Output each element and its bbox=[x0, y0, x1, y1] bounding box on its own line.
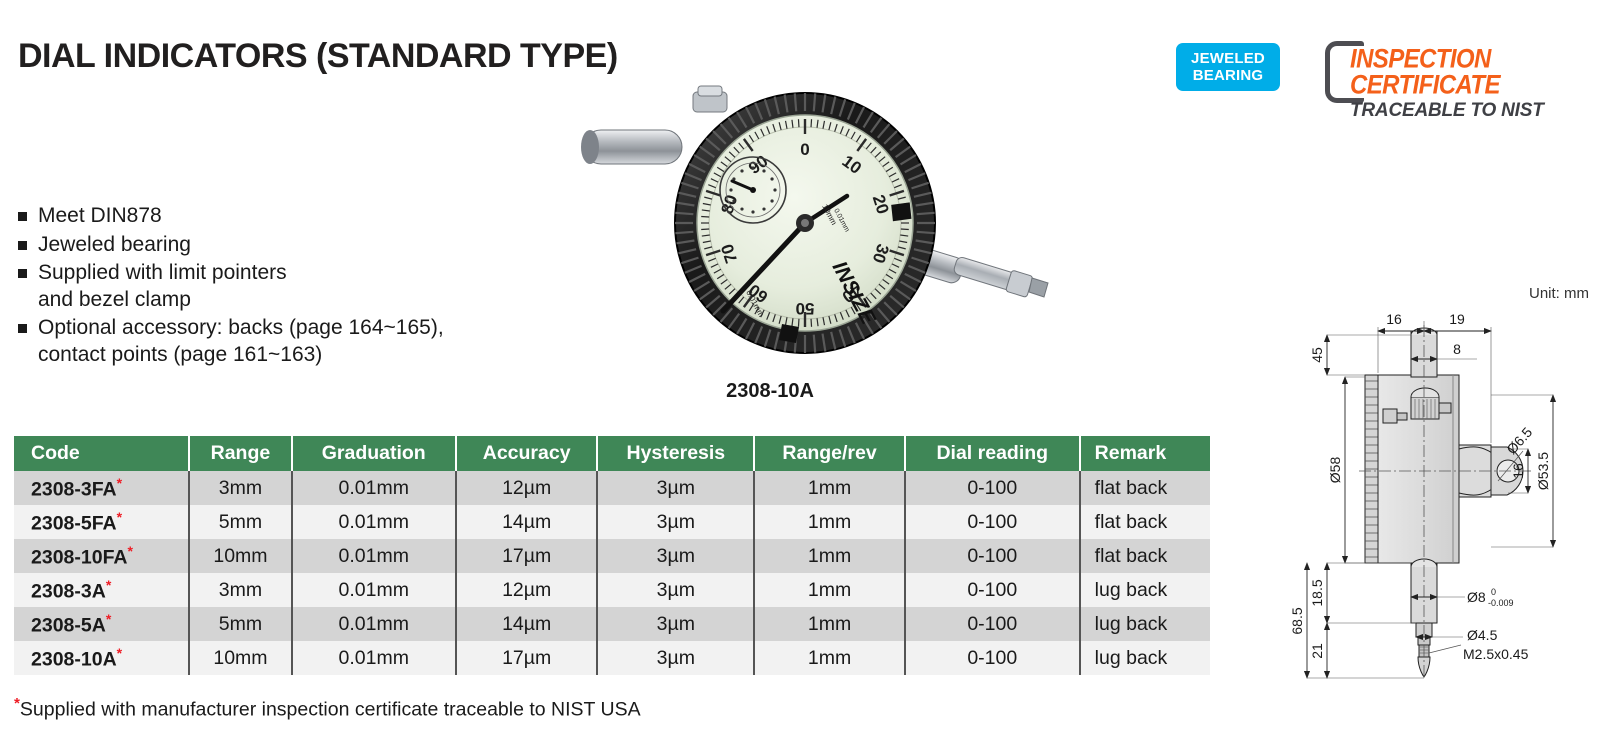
cell-hysteresis: 3µm bbox=[597, 641, 754, 675]
cell-graduation: 0.01mm bbox=[292, 573, 456, 607]
dim-dia8-tol-upper: 0 bbox=[1491, 587, 1496, 597]
table-row: 2308-10A*10mm0.01mm17µm3µm1mm0-100lug ba… bbox=[14, 641, 1210, 675]
cell-accuracy: 17µm bbox=[456, 641, 598, 675]
dim-dia6-5: Ø6.5 bbox=[1503, 424, 1535, 457]
table-header-row: Code Range Graduation Accuracy Hysteresi… bbox=[14, 436, 1210, 471]
cell-range-rev: 1mm bbox=[754, 641, 905, 675]
column-header-remark: Remark bbox=[1080, 436, 1210, 471]
cell-dial-reading: 0-100 bbox=[905, 573, 1080, 607]
cell-code: 2308-3FA* bbox=[14, 471, 189, 505]
product-photo-dial-indicator: 0102030405060708090 I bbox=[560, 78, 1060, 368]
table-row: 2308-5FA*5mm0.01mm14µm3µm1mm0-100flat ba… bbox=[14, 505, 1210, 539]
dim-thread: M2.5x0.45 bbox=[1463, 646, 1529, 662]
dial-tick-label: 0 bbox=[800, 140, 809, 159]
cell-code: 2308-5FA* bbox=[14, 505, 189, 539]
photo-bezel-clamp bbox=[693, 86, 727, 112]
photo-back-lug bbox=[581, 130, 682, 164]
feature-text: Meet DIN878 bbox=[38, 203, 162, 230]
cell-accuracy: 12µm bbox=[456, 573, 598, 607]
feature-list: Meet DIN878 Jeweled bearing Supplied wit… bbox=[18, 203, 538, 370]
square-bullet-icon bbox=[18, 324, 27, 333]
cell-range-rev: 1mm bbox=[754, 505, 905, 539]
list-item: Supplied with limit pointers and bezel c… bbox=[18, 260, 538, 313]
table-row: 2308-5A*5mm0.01mm14µm3µm1mm0-100lug back bbox=[14, 607, 1210, 641]
list-item: Meet DIN878 bbox=[18, 203, 538, 230]
cell-hysteresis: 3µm bbox=[597, 471, 754, 505]
list-item: Optional accessory: backs (page 164~165)… bbox=[18, 315, 538, 368]
feature-line1: Supplied with limit pointers bbox=[38, 261, 287, 284]
dim-dia53-5: Ø53.5 bbox=[1535, 452, 1551, 490]
table-footnote: *Supplied with manufacturer inspection c… bbox=[14, 695, 641, 722]
feature-line1: Jeweled bearing bbox=[38, 233, 191, 256]
dim-21: 21 bbox=[1309, 643, 1325, 659]
feature-text: Supplied with limit pointers and bezel c… bbox=[38, 260, 287, 313]
dim-16-lug: 16 bbox=[1510, 463, 1526, 479]
cell-code: 2308-10FA* bbox=[14, 539, 189, 573]
cell-graduation: 0.01mm bbox=[292, 539, 456, 573]
asterisk-icon: * bbox=[117, 645, 122, 661]
cell-graduation: 0.01mm bbox=[292, 505, 456, 539]
cell-dial-reading: 0-100 bbox=[905, 641, 1080, 675]
asterisk-icon: * bbox=[117, 475, 122, 491]
asterisk-icon: * bbox=[117, 509, 122, 525]
cell-range: 10mm bbox=[189, 539, 291, 573]
column-header-hysteresis: Hysteresis bbox=[597, 436, 754, 471]
table-row: 2308-3A*3mm0.01mm12µm3µm1mm0-100lug back bbox=[14, 573, 1210, 607]
cell-dial-reading: 0-100 bbox=[905, 539, 1080, 573]
feature-text: Optional accessory: backs (page 164~165)… bbox=[38, 315, 444, 368]
cell-dial-reading: 0-100 bbox=[905, 471, 1080, 505]
jeweled-bearing-badge: JEWELED BEARING bbox=[1176, 43, 1280, 91]
cell-hysteresis: 3µm bbox=[597, 539, 754, 573]
column-header-range: Range bbox=[189, 436, 291, 471]
column-header-code: Code bbox=[14, 436, 189, 471]
table-row: 2308-10FA*10mm0.01mm17µm3µm1mm0-100flat … bbox=[14, 539, 1210, 573]
photo-revolution-subdial bbox=[720, 157, 786, 223]
dim-18-5: 18.5 bbox=[1309, 579, 1325, 606]
jeweled-badge-line1: JEWELED bbox=[1191, 50, 1265, 67]
list-item: Jeweled bearing bbox=[18, 232, 538, 259]
table-row: 2308-3FA*3mm0.01mm12µm3µm1mm0-100flat ba… bbox=[14, 471, 1210, 505]
dim-19: 19 bbox=[1449, 311, 1465, 327]
cell-remark: lug back bbox=[1080, 641, 1210, 675]
feature-line1: Optional accessory: backs (page 164~165)… bbox=[38, 316, 444, 339]
cell-range: 10mm bbox=[189, 641, 291, 675]
cell-range: 3mm bbox=[189, 573, 291, 607]
inspection-certificate-logo: INSPECTION CERTIFICATE TRACEABLE TO NIST bbox=[1322, 28, 1536, 128]
cell-code: 2308-5A* bbox=[14, 607, 189, 641]
feature-line2: contact points (page 161~163) bbox=[38, 342, 444, 369]
feature-line2: and bezel clamp bbox=[38, 287, 287, 314]
square-bullet-icon bbox=[18, 269, 27, 278]
product-code-caption: 2308-10A bbox=[560, 380, 980, 403]
cell-range: 3mm bbox=[189, 471, 291, 505]
cell-remark: lug back bbox=[1080, 573, 1210, 607]
cell-hysteresis: 3µm bbox=[597, 573, 754, 607]
cell-range-rev: 1mm bbox=[754, 573, 905, 607]
cell-accuracy: 17µm bbox=[456, 539, 598, 573]
column-header-graduation: Graduation bbox=[292, 436, 456, 471]
asterisk-icon: * bbox=[106, 577, 111, 593]
dim-8: 8 bbox=[1453, 341, 1461, 357]
feature-text: Jeweled bearing bbox=[38, 232, 191, 259]
cell-code: 2308-3A* bbox=[14, 573, 189, 607]
feature-line1: Meet DIN878 bbox=[38, 204, 162, 227]
specifications-table: Code Range Graduation Accuracy Hysteresi… bbox=[14, 436, 1210, 675]
cell-range-rev: 1mm bbox=[754, 539, 905, 573]
cell-remark: flat back bbox=[1080, 539, 1210, 573]
dim-dia8-tol-lower: -0.009 bbox=[1488, 598, 1514, 608]
catalog-page: DIAL INDICATORS (STANDARD TYPE) JEWELED … bbox=[0, 0, 1600, 755]
technical-drawing: Unit: mm bbox=[1285, 285, 1595, 685]
cell-remark: flat back bbox=[1080, 471, 1210, 505]
column-header-range-rev: Range/rev bbox=[754, 436, 905, 471]
cell-accuracy: 14µm bbox=[456, 607, 598, 641]
column-header-accuracy: Accuracy bbox=[456, 436, 598, 471]
cell-range: 5mm bbox=[189, 607, 291, 641]
dim-dia8: Ø8 bbox=[1467, 589, 1486, 605]
cell-accuracy: 12µm bbox=[456, 471, 598, 505]
square-bullet-icon bbox=[18, 212, 27, 221]
certificate-line3: TRACEABLE TO NIST bbox=[1350, 100, 1544, 122]
dim-68-5: 68.5 bbox=[1289, 607, 1305, 634]
cell-graduation: 0.01mm bbox=[292, 471, 456, 505]
cell-dial-reading: 0-100 bbox=[905, 505, 1080, 539]
cell-accuracy: 14µm bbox=[456, 505, 598, 539]
asterisk-icon: * bbox=[106, 611, 111, 627]
page-title: DIAL INDICATORS (STANDARD TYPE) bbox=[18, 37, 618, 76]
dim-16-top: 16 bbox=[1386, 311, 1402, 327]
cell-hysteresis: 3µm bbox=[597, 505, 754, 539]
dim-dia4-5: Ø4.5 bbox=[1467, 627, 1498, 643]
footnote-text: Supplied with manufacturer inspection ce… bbox=[20, 699, 641, 721]
cell-graduation: 0.01mm bbox=[292, 641, 456, 675]
cell-remark: lug back bbox=[1080, 607, 1210, 641]
cell-code: 2308-10A* bbox=[14, 641, 189, 675]
dim-45: 45 bbox=[1309, 347, 1325, 363]
cell-range-rev: 1mm bbox=[754, 607, 905, 641]
cell-range: 5mm bbox=[189, 505, 291, 539]
drawing-svg: 16 19 8 45 Ø58 Ø53.5 16 Ø6.5 68.5 18.5 2… bbox=[1285, 297, 1595, 682]
jeweled-badge-line2: BEARING bbox=[1193, 67, 1264, 84]
cell-graduation: 0.01mm bbox=[292, 607, 456, 641]
cell-dial-reading: 0-100 bbox=[905, 607, 1080, 641]
dial-tick-label: 50 bbox=[796, 299, 815, 318]
column-header-dial-reading: Dial reading bbox=[905, 436, 1080, 471]
square-bullet-icon bbox=[18, 241, 27, 250]
dim-dia58: Ø58 bbox=[1327, 457, 1343, 484]
cell-hysteresis: 3µm bbox=[597, 607, 754, 641]
certificate-line2: CERTIFICATE bbox=[1350, 70, 1500, 101]
cell-range-rev: 1mm bbox=[754, 471, 905, 505]
asterisk-icon: * bbox=[127, 543, 132, 559]
cell-remark: flat back bbox=[1080, 505, 1210, 539]
